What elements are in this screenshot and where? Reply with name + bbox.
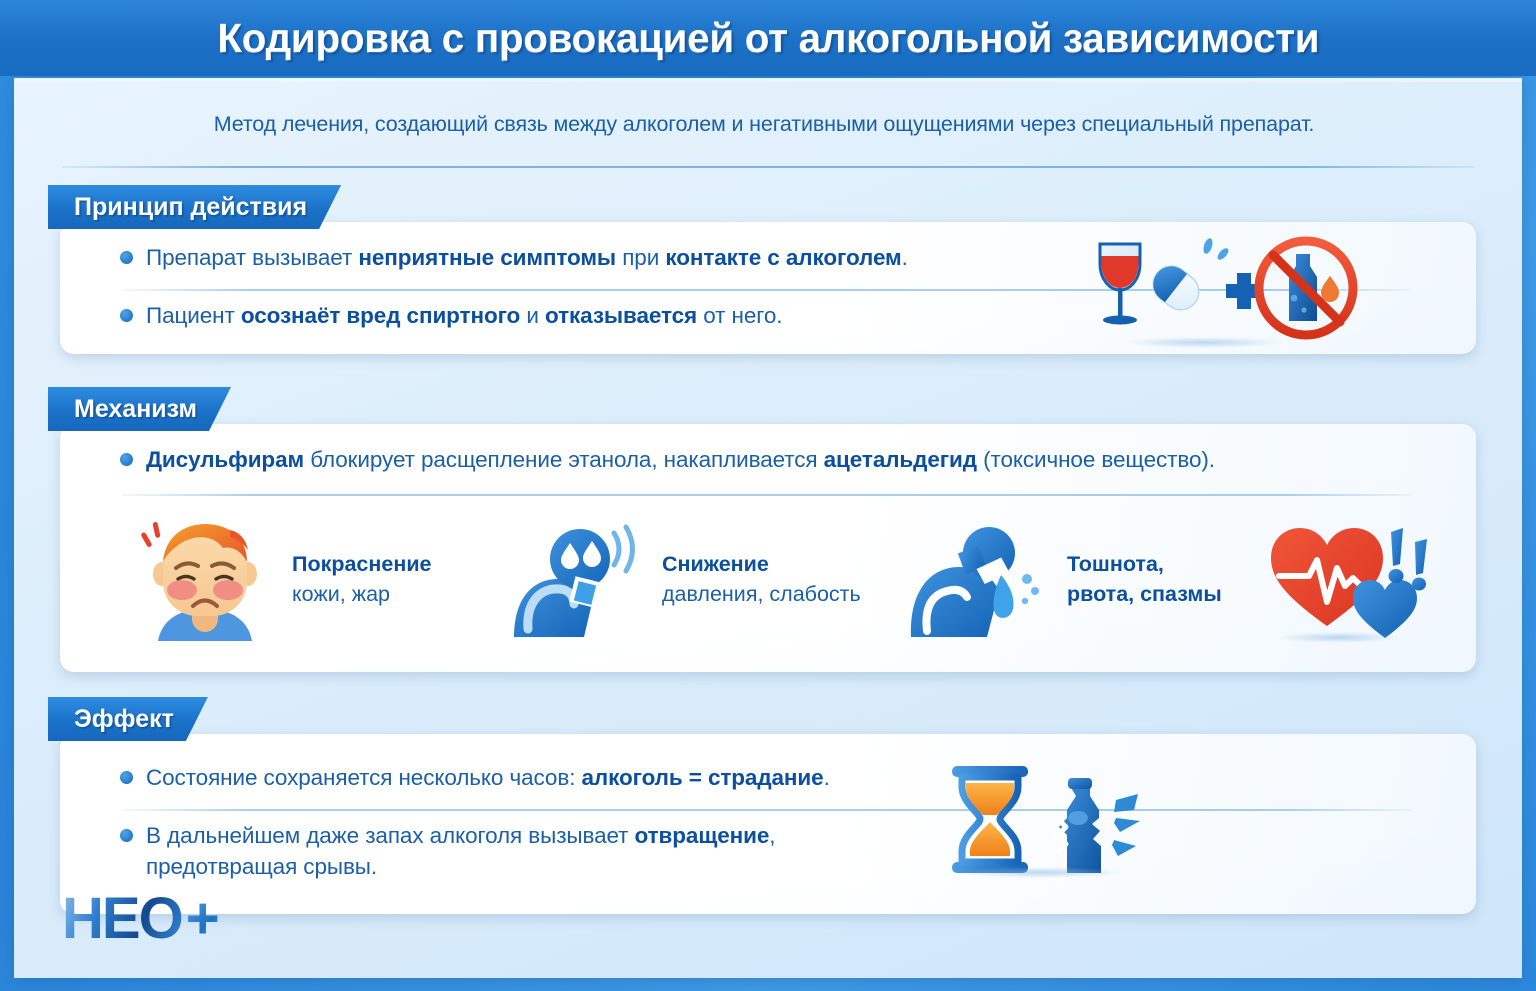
symptom-low-pressure: Снижение давления, слабость (510, 519, 861, 639)
bullet-dot-icon (120, 453, 133, 466)
capsule-pill-icon (1146, 259, 1206, 317)
bullet-text: Дисульфирам блокирует расщепление этанол… (146, 444, 1215, 475)
bullet-item: Состояние сохраняется несколько часов: а… (120, 762, 940, 793)
principle-icon-cluster (1090, 230, 1360, 350)
broken-bottle-icon (1057, 778, 1101, 873)
logo-text: НЕО (62, 885, 182, 952)
bullet-item: Пациент осознаёт вред спиртного и отказы… (120, 300, 1120, 331)
symptom-line-1: Покраснение (292, 549, 432, 579)
vomiting-person-icon (905, 519, 1055, 639)
section-tab-label: Эффект (74, 705, 174, 734)
symptom-line-2: кожи, жар (292, 579, 432, 609)
bullet-item: Дисульфирам блокирует расщепление этанол… (120, 444, 1420, 475)
hourglass-icon (952, 766, 1028, 873)
brand-logo: НЕО+ (62, 885, 218, 952)
bullet-divider (122, 809, 1412, 811)
bullet-dot-icon (120, 309, 133, 322)
bullet-text: Состояние сохраняется несколько часов: а… (146, 762, 830, 793)
section-tab-principle: Принцип действия (48, 185, 341, 229)
icon-shadow (958, 867, 1124, 878)
symptom-label: Тошнота, рвота, спазмы (1067, 549, 1222, 609)
card-mechanism: Дисульфирам блокирует расщепление этанол… (60, 424, 1476, 672)
logo-plus-icon: + (186, 885, 218, 952)
symptom-label: Покраснение кожи, жар (292, 549, 432, 609)
sparkle-icon (1202, 237, 1231, 261)
section-tab-label: Механизм (74, 395, 197, 424)
symptom-heartbeat (1265, 520, 1440, 645)
card-principle: Препарат вызывает неприятные симптомы пр… (60, 222, 1476, 354)
dizzy-person-icon (510, 519, 650, 639)
intro-text: Метод лечения, создающий связь между алк… (64, 112, 1464, 137)
card-effect: Состояние сохраняется несколько часов: а… (60, 734, 1476, 914)
intro-divider (62, 166, 1474, 168)
bullet-divider (122, 494, 1412, 496)
page-title: Кодировка с провокацией от алкогольной з… (217, 15, 1319, 62)
bullet-text: Пациент осознаёт вред спиртного и отказы… (146, 300, 782, 331)
symptom-line-1: Тошнота, (1067, 549, 1222, 579)
icon-shadow (1277, 632, 1400, 643)
bullet-dot-icon (120, 829, 133, 842)
bullet-text: В дальнейшем даже запах алкоголя вызывае… (146, 820, 775, 882)
page-header: Кодировка с провокацией от алкогольной з… (0, 0, 1536, 76)
section-tab-effect: Эффект (48, 697, 208, 741)
symptom-line-1: Снижение (662, 549, 861, 579)
main-panel: Метод лечения, создающий связь между алк… (14, 78, 1522, 978)
no-alcohol-icon (1259, 241, 1353, 335)
flushed-face-icon (130, 516, 280, 641)
symptom-line-2: давления, слабость (662, 579, 861, 609)
wine-glass-icon (1100, 244, 1140, 325)
effect-icon-cluster (930, 756, 1160, 884)
section-tab-mechanism: Механизм (48, 387, 231, 431)
bullet-item: В дальнейшем даже запах алкоголя вызывае… (120, 820, 920, 882)
symptom-flushed-skin: Покраснение кожи, жар (130, 516, 432, 641)
bullet-dot-icon (120, 771, 133, 784)
impact-shards-icon (1112, 794, 1140, 856)
bullet-dot-icon (120, 251, 133, 264)
heartbeat-icon (1265, 520, 1440, 645)
symptom-nausea: Тошнота, рвота, спазмы (905, 519, 1222, 639)
icon-shadow (1125, 337, 1282, 348)
bullet-text: Препарат вызывает неприятные симптомы пр… (146, 242, 908, 273)
symptom-label: Снижение давления, слабость (662, 549, 861, 609)
symptom-line-2: рвота, спазмы (1067, 579, 1222, 609)
principle-icons-svg (1090, 230, 1360, 350)
bullet-item: Препарат вызывает неприятные симптомы пр… (120, 242, 1120, 273)
section-tab-label: Принцип действия (74, 193, 307, 222)
